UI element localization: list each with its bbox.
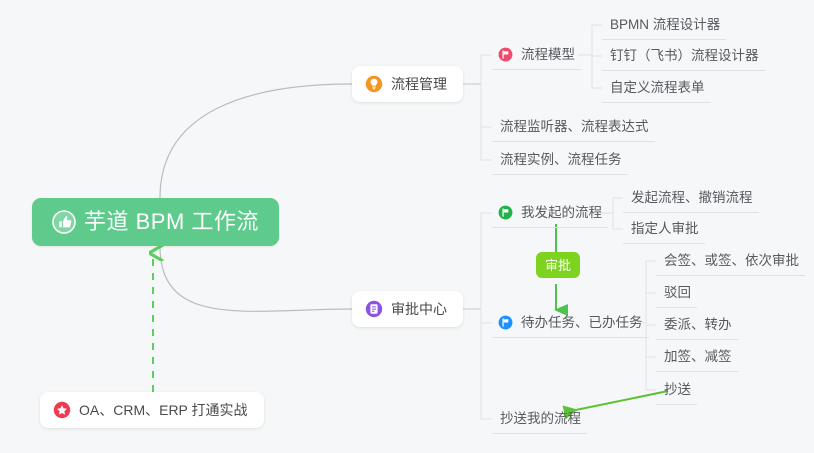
footer-node-label: OA、CRM、ERP 打通实战	[79, 403, 248, 417]
footer-node-oa-crm-erp[interactable]: OA、CRM、ERP 打通实战	[40, 392, 264, 428]
node-label-bpmn-designer: BPMN 流程设计器	[610, 18, 720, 32]
node-my-initiated[interactable]: 我发起的流程	[492, 198, 608, 228]
node-label-start-cancel: 发起流程、撤销流程	[631, 191, 753, 205]
node-label-add-remove-sign: 加签、减签	[664, 350, 732, 364]
node-label-todo-done: 待办任务、已办任务	[521, 316, 643, 330]
node-dingtalk-feishu-designer[interactable]: 钉钉（飞书）流程设计器	[602, 41, 765, 71]
node-label-countersign: 会签、或签、依次审批	[664, 254, 799, 268]
node-add-remove-sign[interactable]: 加签、减签	[656, 342, 738, 372]
node-cc-to-me[interactable]: 抄送我的流程	[492, 404, 587, 434]
blue-flag-icon	[498, 315, 513, 330]
branch-node-process-management[interactable]: 流程管理	[352, 66, 463, 102]
node-label-assigned-approval: 指定人审批	[631, 222, 699, 236]
node-label-delegate-transfer: 委派、转办	[664, 318, 732, 332]
root-node[interactable]: 芋道 BPM 工作流	[32, 198, 279, 246]
node-label-cc-to-me: 抄送我的流程	[500, 412, 581, 426]
branch-label-process-management: 流程管理	[391, 77, 447, 91]
node-start-cancel[interactable]: 发起流程、撤销流程	[623, 183, 759, 213]
approval-tag-label: 审批	[545, 259, 571, 272]
thumbs-up-icon	[52, 210, 76, 234]
node-bpmn-designer[interactable]: BPMN 流程设计器	[602, 10, 726, 40]
red-flag-icon	[498, 47, 513, 62]
node-delegate-transfer[interactable]: 委派、转办	[656, 310, 738, 340]
root-label: 芋道 BPM 工作流	[84, 211, 259, 233]
approval-tag-badge[interactable]: 审批	[536, 252, 580, 278]
edge-root-to-approval-center	[160, 246, 352, 311]
node-label-custom-process-form: 自定义流程表单	[610, 81, 705, 95]
lightbulb-icon	[365, 75, 383, 93]
node-label-listener-expression: 流程监听器、流程表达式	[500, 120, 649, 134]
node-label-process-model: 流程模型	[521, 48, 575, 62]
edge-root-to-process-management	[160, 84, 352, 198]
purple-doc-icon	[365, 300, 383, 318]
node-instance-task[interactable]: 流程实例、流程任务	[492, 145, 628, 175]
node-label-dingtalk-feishu-designer: 钉钉（飞书）流程设计器	[610, 49, 759, 63]
node-listener-expression[interactable]: 流程监听器、流程表达式	[492, 112, 655, 142]
node-process-model[interactable]: 流程模型	[492, 40, 581, 70]
node-label-my-initiated: 我发起的流程	[521, 206, 602, 220]
node-custom-process-form[interactable]: 自定义流程表单	[602, 73, 711, 103]
node-label-instance-task: 流程实例、流程任务	[500, 153, 622, 167]
node-label-cc: 抄送	[664, 383, 691, 397]
branch-label-approval-center: 审批中心	[391, 302, 447, 316]
branch-node-approval-center[interactable]: 审批中心	[352, 291, 463, 327]
green-flag-icon	[498, 205, 513, 220]
node-reject[interactable]: 驳回	[656, 278, 697, 308]
red-star-icon	[53, 401, 71, 419]
node-assigned-approval[interactable]: 指定人审批	[623, 214, 705, 244]
mindmap-canvas: 芋道 BPM 工作流 流程管理 流程模型 BPMN 流程设计器 钉钉（飞书）流	[0, 0, 814, 453]
node-todo-done[interactable]: 待办任务、已办任务	[492, 308, 649, 338]
node-cc[interactable]: 抄送	[656, 375, 697, 405]
node-label-reject: 驳回	[664, 286, 691, 300]
node-countersign[interactable]: 会签、或签、依次审批	[656, 246, 805, 276]
